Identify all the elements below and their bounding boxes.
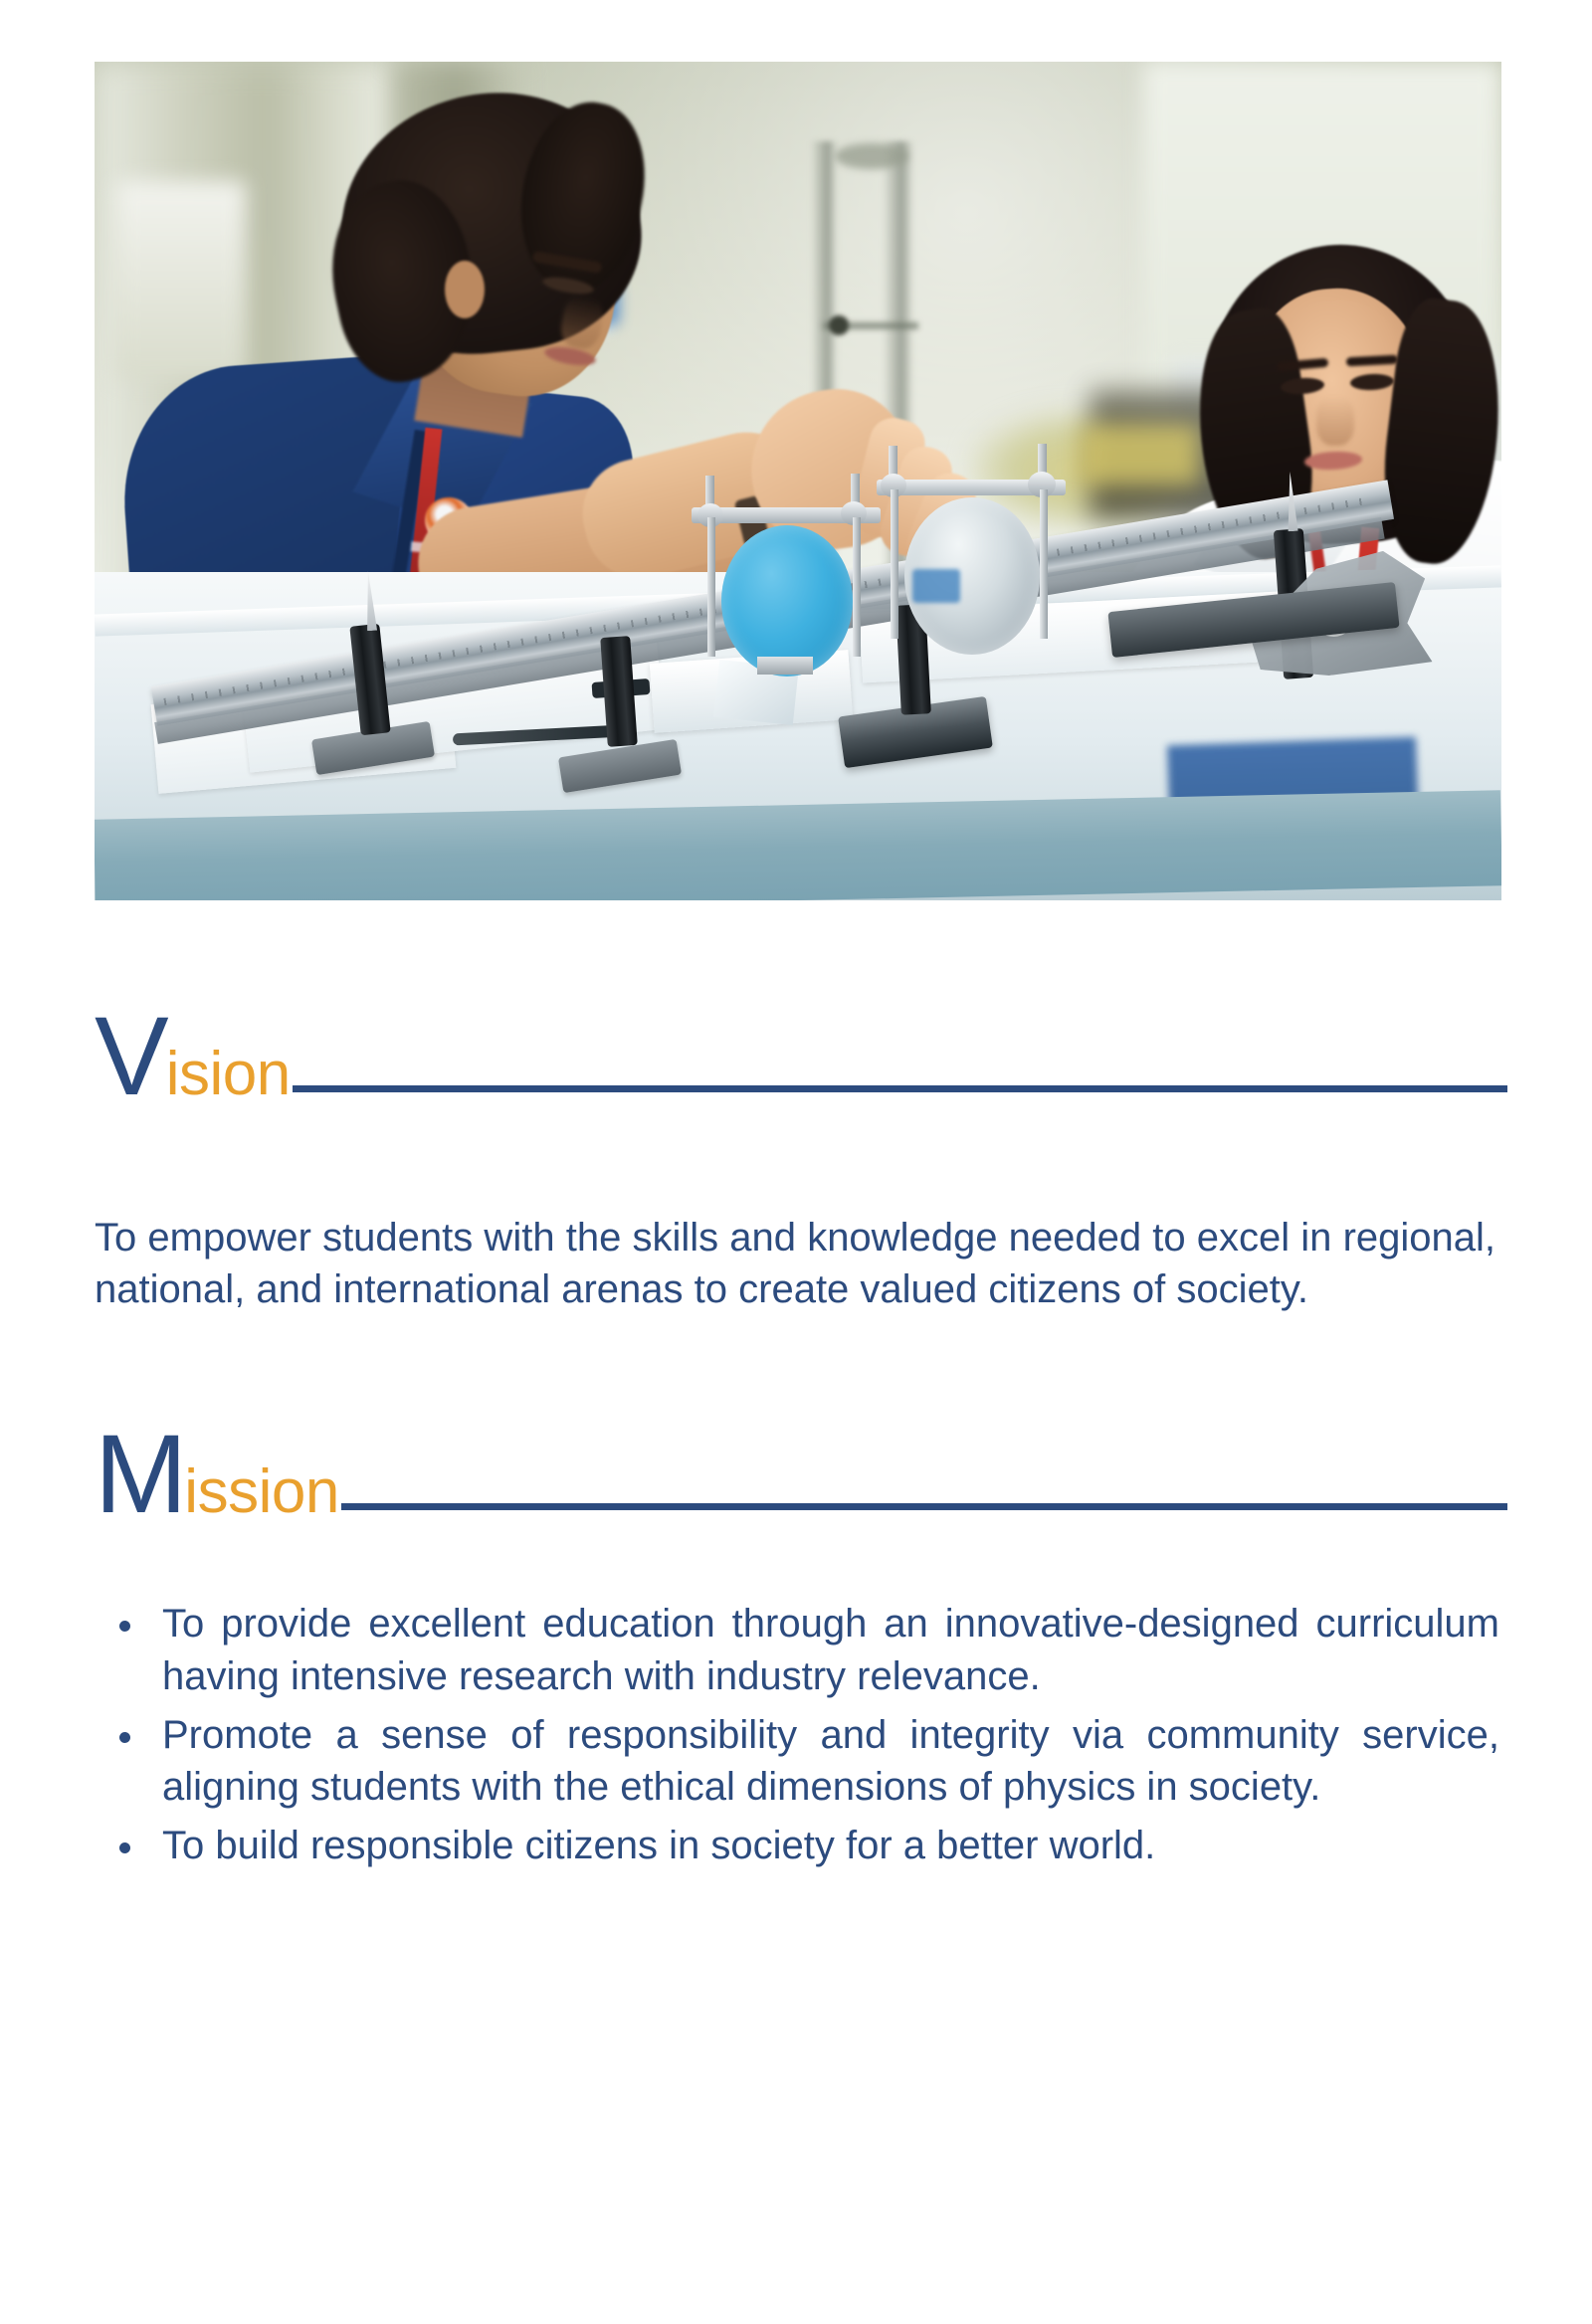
female-student-nose	[1316, 396, 1354, 446]
background-shelf-item	[116, 181, 246, 380]
lens-holder-stem	[757, 657, 813, 675]
blue-lens-glass	[721, 525, 853, 677]
mission-heading-rule	[341, 1503, 1507, 1510]
list-item: To provide excellent education through a…	[95, 1598, 1499, 1703]
mission-heading: M ission	[95, 1425, 1507, 1525]
mirror-holder-side-left	[891, 489, 898, 639]
mirror-reflection	[912, 569, 960, 603]
mirror-holder-side-right	[1040, 489, 1048, 639]
blue-lens-holder	[692, 507, 881, 677]
vision-heading-capital: V	[95, 1007, 168, 1107]
concave-mirror-holder	[877, 480, 1066, 659]
list-item: To build responsible citizens in society…	[95, 1820, 1499, 1872]
background-yellow-object	[1080, 425, 1199, 484]
male-student-ear	[445, 261, 485, 318]
page: V ision To empower students with the ski…	[0, 0, 1592, 2324]
vision-body-text: To empower students with the skills and …	[95, 1212, 1495, 1315]
background-stand-top	[835, 143, 908, 169]
vision-heading: V ision	[95, 1007, 1507, 1107]
lens-holder-side-right	[853, 517, 861, 657]
mission-heading-rest: ission	[184, 1464, 339, 1520]
lab-photo-scene	[95, 62, 1501, 900]
mission-heading-capital: M	[95, 1425, 186, 1525]
mission-list: To provide excellent education through a…	[95, 1598, 1499, 1878]
lab-photo	[95, 62, 1501, 900]
background-stand-knob	[829, 315, 849, 335]
list-item: Promote a sense of responsibility and in…	[95, 1709, 1499, 1815]
lens-holder-side-left	[707, 517, 715, 657]
vision-heading-rest: ision	[166, 1047, 291, 1102]
vision-heading-rule	[293, 1085, 1507, 1092]
